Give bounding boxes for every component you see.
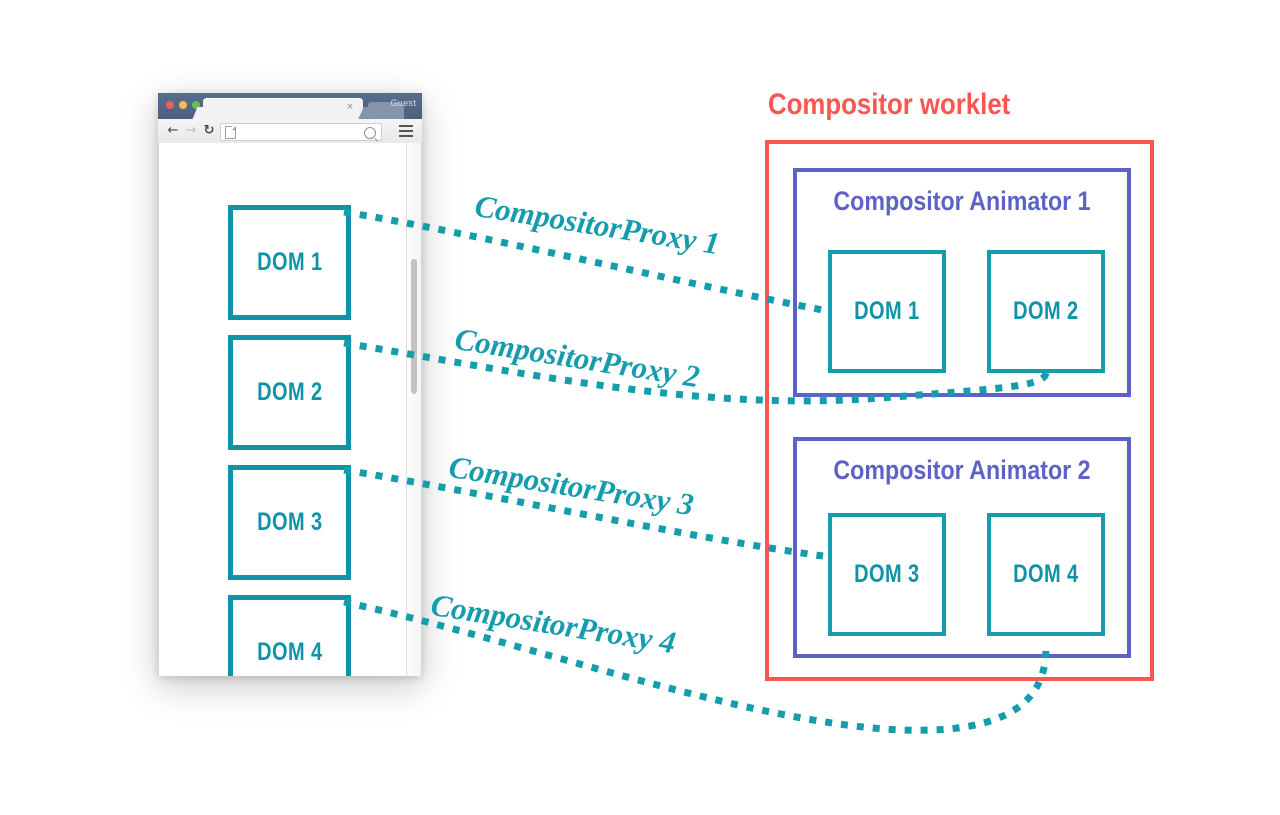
compositor-animator-2-title: Compositor Animator 2 [820, 455, 1104, 486]
close-window-icon[interactable] [166, 101, 174, 109]
vertical-scrollbar[interactable] [406, 143, 421, 676]
forward-icon[interactable]: → [184, 124, 198, 138]
compositor-worklet-box: Compositor Animator 1 DOM 1 DOM 2 Compos… [765, 140, 1154, 681]
compositor-animator-1-title: Compositor Animator 1 [820, 186, 1104, 217]
browser-window: × Guest ← → ↻ DOM 1 DOM [158, 93, 422, 676]
guest-profile-label[interactable]: Guest [390, 98, 416, 108]
hamburger-menu-icon[interactable] [399, 125, 413, 137]
page-dom-label-4: DOM 4 [257, 638, 322, 667]
animator-1-dom-box-2: DOM 2 [987, 250, 1105, 373]
page-document-icon [225, 126, 236, 139]
browser-toolbar: ← → ↻ [158, 119, 422, 144]
page-viewport: DOM 1 DOM 2 DOM 3 DOM 4 [158, 143, 422, 676]
animator-1-dom-label-2: DOM 2 [1013, 297, 1078, 326]
worklet-title: Compositor worklet [768, 88, 1010, 122]
address-bar[interactable] [220, 123, 382, 141]
page-dom-box-2: DOM 2 [228, 335, 351, 450]
scrollbar-thumb[interactable] [411, 259, 417, 394]
page-dom-box-4: DOM 4 [228, 595, 351, 676]
browser-tab[interactable]: × [203, 98, 363, 119]
reload-icon[interactable]: ↻ [202, 124, 216, 138]
animator-2-dom-label-4: DOM 4 [1013, 560, 1078, 589]
animator-2-dom-label-3: DOM 3 [854, 560, 919, 589]
window-controls[interactable] [166, 101, 200, 109]
tab-close-icon[interactable]: × [344, 101, 356, 113]
proxy-label-4: CompositorProxy 4 [428, 587, 678, 661]
search-icon[interactable] [364, 127, 376, 139]
animator-1-dom-box-1: DOM 1 [828, 250, 946, 373]
page-dom-label-1: DOM 1 [257, 248, 322, 277]
page-dom-box-1: DOM 1 [228, 205, 351, 320]
minimize-window-icon[interactable] [179, 101, 187, 109]
animator-1-dom-label-1: DOM 1 [854, 297, 919, 326]
proxy-label-3: CompositorProxy 3 [446, 449, 696, 523]
browser-tabstrip: × Guest [158, 93, 422, 119]
compositor-animator-2: Compositor Animator 2 DOM 3 DOM 4 [793, 437, 1131, 658]
proxy-label-1: CompositorProxy 1 [472, 188, 722, 262]
diagram-canvas: × Guest ← → ↻ DOM 1 DOM [0, 0, 1280, 815]
compositor-animator-1: Compositor Animator 1 DOM 1 DOM 2 [793, 168, 1131, 397]
page-dom-box-3: DOM 3 [228, 465, 351, 580]
page-dom-label-3: DOM 3 [257, 508, 322, 537]
back-icon[interactable]: ← [166, 124, 180, 138]
proxy-label-2: CompositorProxy 2 [452, 321, 702, 395]
page-dom-label-2: DOM 2 [257, 378, 322, 407]
animator-2-dom-box-4: DOM 4 [987, 513, 1105, 636]
animator-2-dom-box-3: DOM 3 [828, 513, 946, 636]
